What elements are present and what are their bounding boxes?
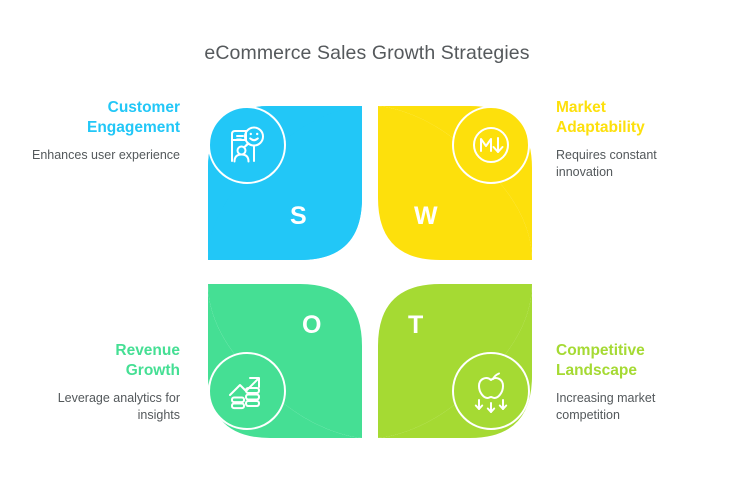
page-title: eCommerce Sales Growth Strategies: [0, 42, 734, 65]
label-revenue-growth: Revenue Growth Leverage analytics for in…: [28, 341, 180, 425]
label-desc-weaknesses: Requires constant innovation: [556, 147, 708, 183]
strengths-icon-badge[interactable]: [208, 106, 286, 184]
user-feedback-smiley-icon: [223, 121, 271, 169]
label-title-threats: Competitive Landscape: [556, 341, 708, 381]
weaknesses-icon-badge[interactable]: [452, 106, 530, 184]
petal-letter-o: O: [302, 313, 321, 338]
swot-diagram: S W O T: [196, 98, 544, 446]
label-title-line1: Customer: [108, 99, 180, 116]
label-title-line2: Landscape: [556, 362, 637, 379]
opportunities-icon-badge[interactable]: [208, 352, 286, 430]
label-title-line1: Market: [556, 99, 606, 116]
label-title-line1: Competitive: [556, 342, 645, 359]
label-customer-engagement: Customer Engagement Enhances user experi…: [28, 98, 180, 164]
label-title-line2: Adaptability: [556, 119, 645, 136]
label-desc-strengths: Enhances user experience: [28, 147, 180, 165]
label-market-adaptability: Market Adaptability Requires constant in…: [556, 98, 708, 182]
apple-falling-arrows-icon: [467, 367, 515, 415]
label-title-opportunities: Revenue Growth: [28, 341, 180, 381]
label-title-weaknesses: Market Adaptability: [556, 98, 708, 138]
label-title-strengths: Customer Engagement: [28, 98, 180, 138]
market-decline-icon: [467, 121, 515, 169]
petal-letter-s: S: [290, 204, 307, 229]
label-title-line1: Revenue: [115, 342, 180, 359]
label-desc-opportunities: Leverage analytics for insights: [28, 390, 180, 426]
label-desc-threats: Increasing market competition: [556, 390, 708, 426]
label-title-line2: Growth: [126, 362, 180, 379]
threats-icon-badge[interactable]: [452, 352, 530, 430]
label-title-line2: Engagement: [87, 119, 180, 136]
growth-chart-coins-icon: [223, 367, 271, 415]
label-competitive-landscape: Competitive Landscape Increasing market …: [556, 341, 708, 425]
petal-letter-w: W: [414, 204, 438, 229]
petal-letter-t: T: [408, 313, 423, 338]
